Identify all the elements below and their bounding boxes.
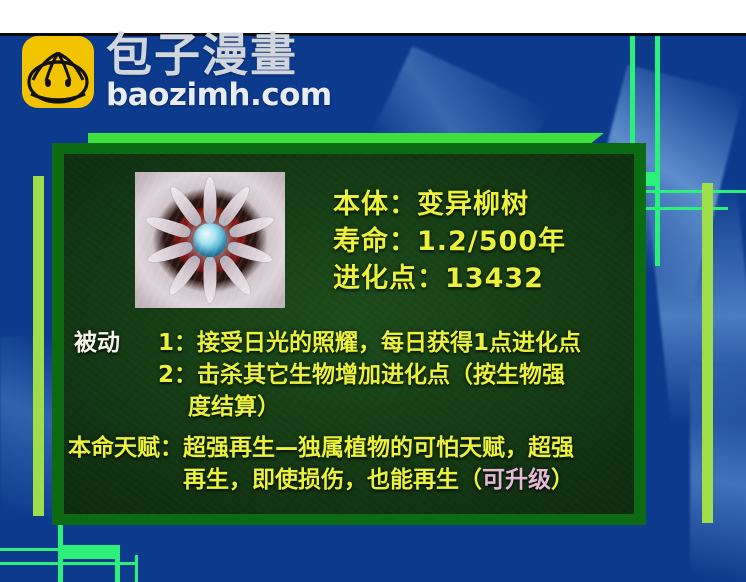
passive-skills: 被动 1：接受日光的照耀，每日获得1点进化点 被动 2：击杀其它生物增加进化点（… <box>74 327 634 423</box>
talent-line-1: 超强再生—独属植物的可怕天赋，超强 <box>183 432 648 464</box>
character-stats: 本体：变异柳树 寿命：1.2/500年 进化点：13432 <box>333 186 566 297</box>
passive-row: 被动 度结算） <box>74 391 634 423</box>
talent-line-2-text: 再生，即使损伤，也能再生（ <box>183 467 482 493</box>
circuit-line-vertical <box>135 555 138 582</box>
site-watermark: 包子漫畫 baozimh.com <box>22 36 332 111</box>
passive-row: 被动 1：接受日光的照耀，每日获得1点进化点 <box>74 327 634 359</box>
talent-row: 本命天赋： 再生，即使损伤，也能再生（可升级） <box>68 464 648 496</box>
light-streak <box>647 182 746 450</box>
light-streak <box>690 366 746 582</box>
stat-body: 本体：变异柳树 <box>333 186 566 223</box>
talent-line-2-close: ） <box>551 467 574 493</box>
circuit-node <box>58 545 120 559</box>
circuit-line-horizontal <box>0 562 135 565</box>
circuit-line-vertical <box>655 36 660 266</box>
passive-line-3: 度结算） <box>158 391 634 423</box>
circuit-line-horizontal <box>0 548 60 551</box>
talent-line-2: 再生，即使损伤，也能再生（可升级） <box>183 464 648 496</box>
talent-row: 本命天赋： 超强再生—独属植物的可怕天赋，超强 <box>68 432 648 464</box>
stat-lifespan: 寿命：1.2/500年 <box>333 223 566 260</box>
watermark-cn-name: 包子漫畫 <box>106 32 332 78</box>
screenshot-root: 包子漫畫 baozimh.com 本体：变异柳树 <box>0 0 746 582</box>
watermark-domain: baozimh.com <box>106 80 332 111</box>
accent-bar-left <box>33 176 44 516</box>
passive-line-1: 1：接受日光的照耀，每日获得1点进化点 <box>158 327 634 359</box>
passive-line-2: 2：击杀其它生物增加进化点（按生物强 <box>158 359 634 391</box>
accent-bar-right <box>702 183 713 523</box>
passive-label: 被动 <box>74 327 158 359</box>
baozi-bun-logo-icon <box>22 36 94 108</box>
talent-upgrade-tag: 可升级 <box>482 467 551 493</box>
innate-talent: 本命天赋： 超强再生—独属植物的可怕天赋，超强 本命天赋： 再生，即使损伤，也能… <box>68 432 648 496</box>
stat-evolution-points: 进化点：13432 <box>333 260 566 297</box>
portrait-texture-overlay <box>135 172 285 308</box>
passive-row: 被动 2：击杀其它生物增加进化点（按生物强 <box>74 359 634 391</box>
talent-label: 本命天赋： <box>68 432 183 464</box>
character-portrait <box>135 172 285 308</box>
